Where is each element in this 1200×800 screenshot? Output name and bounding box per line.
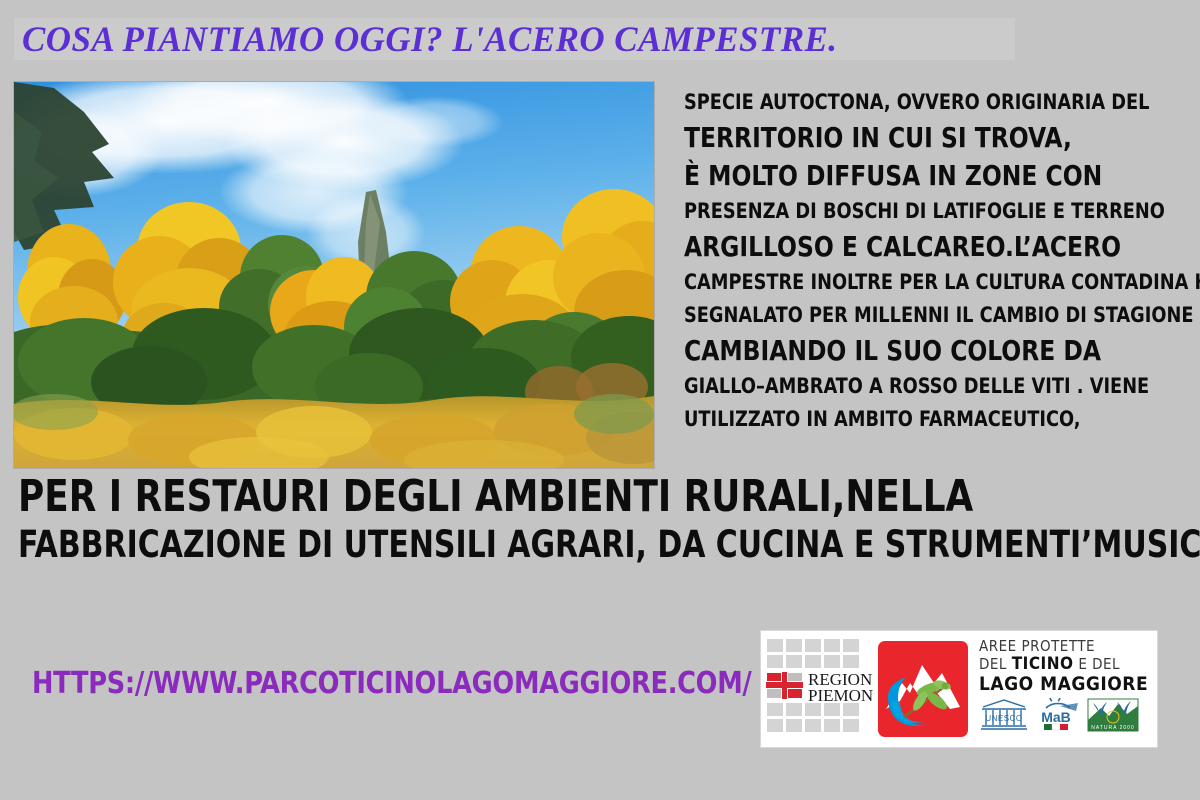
website-url[interactable]: HTTPS://WWW.PARCOTICINOLAGOMAGGIORE.COM/ <box>32 666 752 702</box>
wide-headline-line-1: PER I RESTAURI DEGLI AMBIENTI RURALI,NEL… <box>18 472 1077 522</box>
page-title: COSA PIANTIAMO OGGI? L'ACERO CAMPESTRE. <box>22 18 1002 62</box>
description-line: SPECIE AUTOCTONA, OVVERO ORIGINARIA DEL <box>684 86 1154 119</box>
aree-protette-line2-suffix: E DEL <box>1074 655 1121 673</box>
autumn-forest-photo <box>14 82 654 468</box>
parco-ticino-graphic <box>876 639 970 739</box>
description-line: CAMBIANDO IL SUO COLORE DA <box>684 332 1149 370</box>
piemonte-cross-emblem <box>765 671 804 700</box>
aree-protette-line3: LAGO MAGGIORE <box>979 673 1153 695</box>
description-text-block: SPECIE AUTOCTONA, OVVERO ORIGINARIA DEL … <box>684 86 1184 436</box>
aree-protette-line2: DEL TICINO E DEL <box>979 655 1153 673</box>
description-line: SEGNALATO PER MILLENNI IL CAMBIO DI STAG… <box>684 299 1154 332</box>
unesco-logo: UNESCO <box>979 698 1029 732</box>
regione-piemonte-graphic: REGIONE PIEMONTE <box>761 631 873 745</box>
svg-text:NATURA 2000: NATURA 2000 <box>1091 725 1134 731</box>
poster-canvas: COSA PIANTIAMO OGGI? L'ACERO CAMPESTRE. <box>0 0 1200 800</box>
description-line: CAMPESTRE INOLTRE PER LA CULTURA CONTADI… <box>684 266 1154 299</box>
description-line: UTILIZZATO IN AMBITO FARMACEUTICO, <box>684 403 1154 436</box>
partner-logos: UNESCO MaB <box>979 698 1153 732</box>
description-line: PRESENZA DI BOSCHI DI LATIFOGLIE E TERRE… <box>684 195 1154 228</box>
aree-protette-line2-bold: TICINO <box>1012 654 1074 674</box>
aree-protette-logo: AREE PROTETTE DEL TICINO E DEL LAGO MAGG… <box>973 631 1157 747</box>
description-line: GIALLO–AMBRATO A ROSSO DELLE VITI . VIEN… <box>684 370 1154 403</box>
mab-logo: MaB <box>1036 698 1080 732</box>
regione-piemonte-line2: PIEMONTE <box>808 686 873 705</box>
logo-bar: REGIONE PIEMONTE <box>760 630 1158 748</box>
description-line: È MOLTO DIFFUSA IN ZONE CON <box>684 157 1149 195</box>
natura2000-logo: NATURA 2000 <box>1087 698 1139 732</box>
svg-text:UNESCO: UNESCO <box>985 714 1022 723</box>
description-line: ARGILLOSO E CALCAREO.L’ACERO <box>684 228 1149 266</box>
parco-ticino-logo <box>873 631 973 747</box>
aree-protette-line2-prefix: DEL <box>979 655 1012 673</box>
svg-text:MaB: MaB <box>1041 709 1071 725</box>
regione-piemonte-logo: REGIONE PIEMONTE <box>761 631 873 747</box>
aree-protette-line1: AREE PROTETTE <box>979 637 1153 655</box>
wide-headline-line-2: FABBRICAZIONE DI UTENSILI AGRARI, DA CUC… <box>18 523 1080 567</box>
photo-illustration <box>14 82 654 468</box>
description-line: TERRITORIO IN CUI SI TROVA, <box>684 119 1149 157</box>
